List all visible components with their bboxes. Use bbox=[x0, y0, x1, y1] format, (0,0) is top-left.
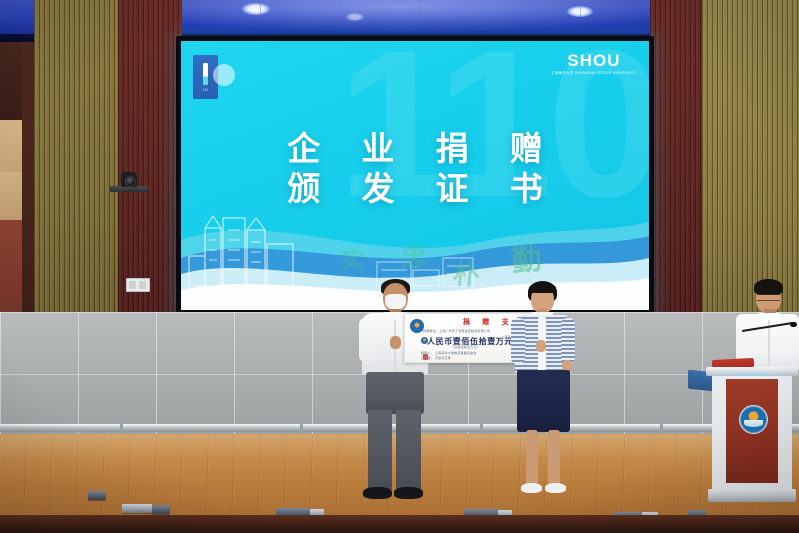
podium-base bbox=[708, 489, 796, 502]
screen-headline-line2: 颁 发 证 书 bbox=[181, 169, 649, 209]
screen-headline-line1: 企 业 捐 赠 bbox=[181, 129, 649, 169]
soffit-segment bbox=[260, 0, 341, 16]
motto-char-4: 实 bbox=[340, 240, 367, 277]
podium[interactable] bbox=[706, 367, 798, 507]
certificate-line-left1: 捐赠人： 上海海洋大学教育发展基金会 bbox=[421, 351, 477, 355]
right-leg bbox=[396, 410, 421, 492]
left-hand bbox=[390, 336, 401, 349]
shou-logo-mark: SHOU bbox=[551, 53, 637, 68]
face-mask bbox=[385, 294, 406, 310]
screen-badge-icon: 110 bbox=[193, 55, 218, 99]
camera-lens-icon bbox=[125, 176, 136, 187]
wall-power-outlet[interactable] bbox=[126, 278, 150, 292]
floor-outlet-plate[interactable] bbox=[122, 504, 152, 513]
navy-skirt bbox=[517, 370, 570, 432]
left-shoe bbox=[363, 487, 392, 499]
stage-edge bbox=[0, 515, 799, 533]
blazer-left-sleeve bbox=[511, 318, 525, 364]
speaker-hair bbox=[754, 279, 783, 295]
right-shoe bbox=[545, 483, 566, 493]
certificate-line-top: 捐赠单位：上海广升安下有限责任制造有限公司 bbox=[423, 329, 490, 333]
soffit-segment bbox=[500, 0, 581, 16]
certificate-red-mark-left bbox=[423, 354, 428, 360]
left-arm bbox=[359, 318, 374, 362]
right-shoe bbox=[394, 487, 423, 499]
floor-outlet-plate[interactable] bbox=[88, 491, 106, 500]
motto-char-3: 忠 bbox=[400, 236, 428, 274]
shou-logo-subtitle: 上海海洋大学 SHANGHAI OCEAN UNIVERSITY bbox=[551, 70, 637, 75]
badge-circle-icon bbox=[213, 64, 235, 86]
university-emblem-icon bbox=[739, 405, 768, 434]
hair-fringe bbox=[529, 283, 556, 293]
soffit-segment bbox=[580, 0, 661, 16]
right-leg bbox=[548, 430, 560, 486]
motto-char-2: 朴 bbox=[452, 252, 482, 293]
soffit-segment bbox=[180, 0, 261, 16]
screen-headline: 企 业 捐 赠 颁 发 证 书 bbox=[181, 129, 649, 209]
wall-panel-block bbox=[0, 42, 22, 120]
trousers bbox=[366, 372, 424, 414]
motto-char-1: 勤 bbox=[509, 234, 543, 281]
soffit-segment bbox=[340, 0, 421, 16]
wall-panel-block bbox=[0, 120, 22, 172]
shou-logo: SHOU 上海海洋大学 SHANGHAI OCEAN UNIVERSITY bbox=[551, 53, 637, 75]
floor-outlet-plate[interactable] bbox=[152, 505, 170, 514]
right-hand bbox=[536, 340, 546, 352]
badge-caption: 110 bbox=[193, 88, 218, 92]
wall-panel-block bbox=[0, 172, 22, 220]
eyeglasses-icon bbox=[757, 294, 780, 301]
scene-root: 110 bbox=[0, 0, 799, 533]
left-leg bbox=[368, 410, 392, 492]
led-screen[interactable]: 110 bbox=[181, 41, 649, 310]
blazer-right-sleeve bbox=[561, 318, 575, 364]
certificate-amount-sub: （壹佰伍拾壹万元） bbox=[451, 345, 480, 349]
left-leg bbox=[526, 430, 538, 486]
soffit-segment bbox=[420, 0, 501, 16]
microphone-head-icon bbox=[790, 322, 797, 327]
left-shoe bbox=[521, 483, 542, 493]
badge-bar-icon bbox=[203, 63, 208, 85]
